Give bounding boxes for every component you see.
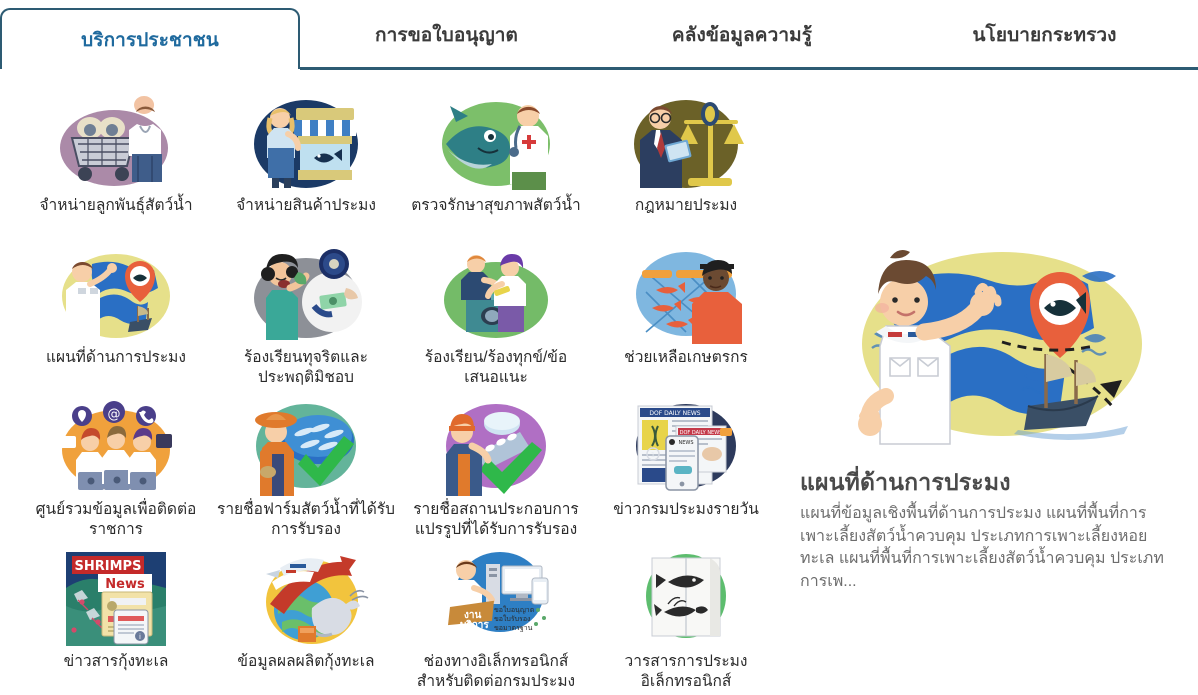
- svg-text:1: 1: [651, 451, 655, 459]
- daily-news-icon: DOF DAILY NEWS DOF DAILY NEWS: [622, 396, 750, 496]
- svg-text:DOF DAILY NEWS: DOF DAILY NEWS: [649, 410, 700, 417]
- certified-processor-list-icon: [432, 396, 560, 496]
- svg-text:NEWS: NEWS: [678, 440, 693, 446]
- service-item[interactable]: จำหน่ายสินค้าประมง: [212, 88, 400, 240]
- tab-license-application[interactable]: การขอใบอนุญาต: [300, 0, 593, 70]
- service-grid-container: จำหน่ายลูกพันธุ์สัตว์น้ำ: [0, 78, 790, 695]
- service-label: ช่องทางอิเล็กทรอนิกส์ สำหรับติดต่อกรมประ…: [417, 652, 575, 692]
- certified-farm-list-icon: [242, 396, 370, 496]
- service-item[interactable]: รายชื่อฟาร์มสัตว์น้ำที่ได้รับ การรับรอง: [212, 392, 400, 544]
- fisheries-map-illustration: [832, 246, 1162, 451]
- service-item[interactable]: ตรวจรักษาสุขภาพสัตว์น้ำ: [402, 88, 590, 240]
- svg-text:News: News: [105, 577, 145, 592]
- service-label: แผนที่ด้านการประมง: [46, 348, 186, 368]
- service-label: ตรวจรักษาสุขภาพสัตว์น้ำ: [411, 196, 581, 216]
- service-item[interactable]: แผนที่ด้านการประมง: [22, 240, 210, 392]
- tab-panel-citizen-services: จำหน่ายลูกพันธุ์สัตว์น้ำ: [0, 78, 1198, 695]
- svg-text:@: @: [108, 407, 121, 422]
- service-item[interactable]: งาน บริการ ขอใบอนุญาต ขอใบรับรอง ขอมาตรฐ…: [402, 544, 590, 695]
- svg-text:SHRIMPS: SHRIMPS: [75, 559, 142, 574]
- shrimp-news-icon: SHRIMPS News: [52, 548, 180, 648]
- service-label: รายชื่อสถานประกอบการ แปรรูปที่ได้รับการร…: [413, 500, 579, 540]
- featured-description: แผนที่ข้อมูลเชิงพื้นที่ด้านการประมง แผนท…: [800, 503, 1170, 594]
- service-label: วารสารการประมง อิเล็กทรอนิกส์: [625, 652, 748, 692]
- service-label: ร้องเรียน/ร้องทุกข์/ข้อ เสนอแนะ: [425, 348, 567, 388]
- service-label: ศูนย์รวมข้อมูลเพื่อติดต่อ ราชการ: [36, 500, 197, 540]
- fisheries-shop-icon: [242, 92, 370, 192]
- service-item[interactable]: SHRIMPS News: [22, 544, 210, 695]
- electronic-journal-icon: [622, 548, 750, 648]
- service-item[interactable]: @: [22, 392, 210, 544]
- tab-ministry-policy[interactable]: นโยบายกระทรวง: [891, 0, 1198, 70]
- service-label: จำหน่ายสินค้าประมง: [236, 196, 376, 216]
- tab-label: การขอใบอนุญาต: [375, 20, 518, 50]
- tab-bar: บริการประชาชน การขอใบอนุญาต คลังข้อมูลคว…: [0, 0, 1198, 78]
- service-item[interactable]: ร้องเรียนทุจริตและ ประพฤติมิชอบ: [212, 240, 400, 392]
- service-label: ข่าวกรมประมงรายวัน: [613, 500, 759, 520]
- service-item[interactable]: รายชื่อสถานประกอบการ แปรรูปที่ได้รับการร…: [402, 392, 590, 544]
- service-item[interactable]: ช่วยเหลือเกษตรกร: [592, 240, 780, 392]
- service-label: ร้องเรียนทุจริตและ ประพฤติมิชอบ: [244, 348, 368, 388]
- svg-text:ขอใบอนุญาต: ขอใบอนุญาต: [494, 605, 535, 614]
- service-label: ช่วยเหลือเกษตรกร: [624, 348, 748, 368]
- service-item[interactable]: DOF DAILY NEWS DOF DAILY NEWS: [592, 392, 780, 544]
- shrimp-production-icon: [242, 548, 370, 648]
- service-label: รายชื่อฟาร์มสัตว์น้ำที่ได้รับ การรับรอง: [217, 500, 395, 540]
- service-item[interactable]: ร้องเรียน/ร้องทุกข์/ข้อ เสนอแนะ: [402, 240, 590, 392]
- tab-label: นโยบายกระทรวง: [972, 20, 1116, 50]
- tab-label: คลังข้อมูลความรู้: [672, 20, 812, 50]
- tab-list: บริการประชาชน การขอใบอนุญาต คลังข้อมูลคว…: [0, 0, 1198, 70]
- svg-text:ขอใบรับรอง: ขอใบรับรอง: [494, 614, 530, 623]
- fish-fry-sale-icon: [52, 92, 180, 192]
- service-item[interactable]: วารสารการประมง อิเล็กทรอนิกส์: [592, 544, 780, 695]
- electronic-service-channel-icon: งาน บริการ ขอใบอนุญาต ขอใบรับรอง ขอมาตรฐ…: [432, 548, 560, 648]
- tab-label: บริการประชาชน: [81, 25, 219, 55]
- aquatic-animal-health-icon: [432, 92, 560, 192]
- fisheries-law-icon: [622, 92, 750, 192]
- government-contact-center-icon: @: [52, 396, 180, 496]
- tab-knowledge-base[interactable]: คลังข้อมูลความรู้: [593, 0, 891, 70]
- service-label: ข่าวสารกุ้งทะเล: [64, 652, 169, 672]
- svg-text:บริการ: บริการ: [460, 619, 489, 631]
- service-label: ข้อมูลผลผลิตกุ้งทะเล: [237, 652, 374, 672]
- farmer-assistance-icon: [622, 244, 750, 344]
- complaint-suggestion-icon: [432, 244, 560, 344]
- service-item[interactable]: จำหน่ายลูกพันธุ์สัตว์น้ำ: [22, 88, 210, 240]
- service-grid: จำหน่ายลูกพันธุ์สัตว์น้ำ: [22, 88, 790, 695]
- service-label: กฎหมายประมง: [635, 196, 737, 216]
- fisheries-map-icon: [52, 244, 180, 344]
- service-item[interactable]: กฎหมายประมง: [592, 88, 780, 240]
- tab-citizen-services[interactable]: บริการประชาชน: [0, 8, 300, 70]
- service-item[interactable]: ข้อมูลผลผลิตกุ้งทะเล: [212, 544, 400, 695]
- svg-text:i: i: [139, 633, 141, 641]
- featured-title: แผนที่ด้านการประมง: [800, 465, 1178, 501]
- featured-panel[interactable]: แผนที่ด้านการประมง แผนที่ข้อมูลเชิงพื้นท…: [790, 78, 1198, 695]
- svg-text:DOF DAILY NEWS: DOF DAILY NEWS: [680, 430, 723, 436]
- service-label: จำหน่ายลูกพันธุ์สัตว์น้ำ: [39, 196, 192, 216]
- corruption-complaint-icon: [242, 244, 370, 344]
- svg-text:ขอมาตรฐาน: ขอมาตรฐาน: [494, 624, 533, 632]
